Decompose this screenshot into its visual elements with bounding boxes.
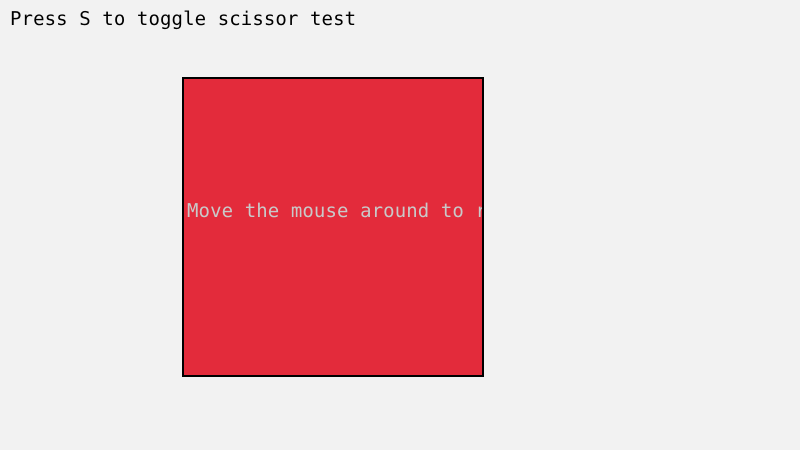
scissor-rectangle[interactable]: Move the mouse around to reposition the … <box>182 77 484 377</box>
toggle-scissor-hint-text: Press S to toggle scissor test <box>10 8 356 30</box>
scissor-test-canvas[interactable]: Press S to toggle scissor test Move the … <box>0 0 800 450</box>
scissor-clipped-message: Move the mouse around to reposition the … <box>187 200 484 222</box>
